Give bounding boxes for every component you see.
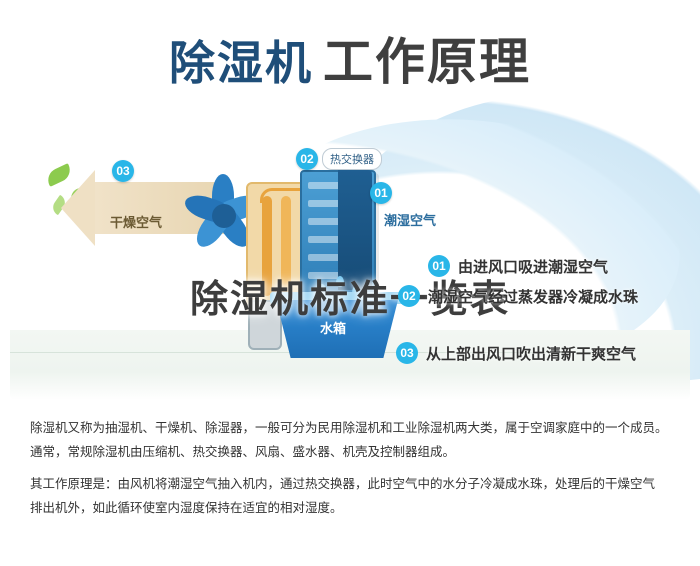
diagram-tag-03: 03 [112,160,134,182]
page-title-part1: 除湿机 [169,37,313,89]
step-text: 潮湿空气经过蒸发器冷凝成水珠 [428,286,638,307]
wet-air-label: 潮湿空气 [384,210,436,229]
step-badge: 02 [398,285,420,307]
dry-air-label: 干燥空气 [110,212,162,231]
diagram-tag-02: 02 [296,148,318,170]
step-badge: 01 [428,255,450,277]
step-text: 从上部出风口吹出清新干爽空气 [426,343,636,364]
fan-hub [212,204,236,228]
description-block: 除湿机又称为抽湿机、干燥机、除湿器，一般可分为民用除湿机和工业除湿机两大类，属于… [30,418,670,522]
step-item-02: 02 潮湿空气经过蒸发器冷凝成水珠 [398,285,638,307]
description-line-1: 除湿机又称为抽湿机、干燥机、除湿器，一般可分为民用除湿机和工业除湿机两大类，属于… [30,418,670,438]
page-root: 除湿机工作原理 干燥空气 [0,0,700,566]
step-item-03: 03 从上部出风口吹出清新干爽空气 [396,342,636,364]
heat-exchanger-label: 热交换器 [322,148,382,170]
page-title-part2: 工作原理 [323,34,531,90]
page-title: 除湿机工作原理 [0,22,700,94]
illustration-panel: 除湿机工作原理 干燥空气 [0,0,700,400]
step-text: 由进风口吸进潮湿空气 [458,256,608,277]
description-line-4: 排出机外，如此循环使室内湿度保持在适宜的相对湿度。 [30,498,670,518]
description-line-3: 其工作原理是：由风机将潮湿空气抽入机内，通过热交换器，此时空气中的水分子冷凝成水… [30,474,670,494]
step-item-01: 01 由进风口吸进潮湿空气 [428,255,608,277]
step-badge: 03 [396,342,418,364]
diagram-tag-01: 01 [370,182,392,204]
description-line-2: 通常，常规除湿机由压缩机、热交换器、风扇、盛水器、机壳及控制器组成。 [30,442,670,462]
